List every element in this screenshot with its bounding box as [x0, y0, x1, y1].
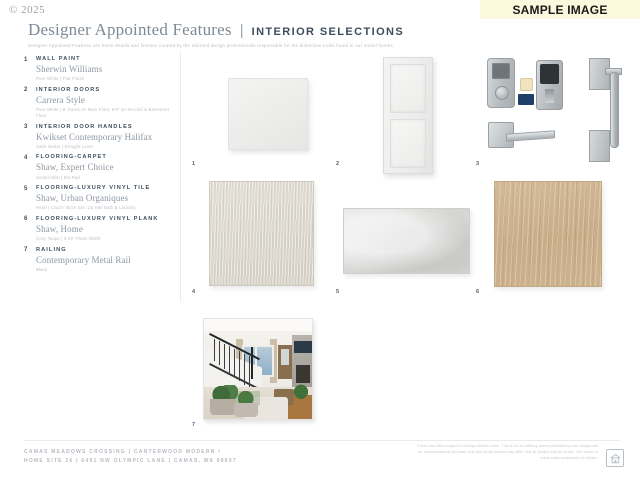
- equal-housing-opportunity-icon: [606, 449, 624, 467]
- legend-product-name: Shaw, Urban Organiques: [36, 193, 176, 205]
- legend-product-name: Shaw, Home: [36, 224, 176, 236]
- photo-metal-railing: [210, 333, 262, 379]
- list-item: 6 FLOORING-LUXURY VINYL PLANK Shaw, Home…: [24, 216, 176, 242]
- selection-sheet: SAMPLE IMAGE © 2025 Designer Appointed F…: [0, 0, 640, 480]
- smart-lock-slot: [545, 89, 554, 103]
- swatch-number-5: 5: [336, 289, 339, 295]
- swatch-carpet: [209, 181, 314, 286]
- legend-category: INTERIOR DOOR HANDLES: [36, 124, 176, 131]
- photo-railing-post: [234, 349, 235, 377]
- photo-newel-post: [251, 347, 253, 379]
- photo-television: [294, 341, 313, 353]
- brand-badge-icon: [518, 94, 534, 105]
- footer-disclaimer: Prices and offers subject to change with…: [413, 444, 598, 461]
- door-panel-top: [390, 64, 426, 113]
- swatch-number-4: 4: [192, 289, 195, 295]
- legend-number: 2: [24, 87, 36, 119]
- legend-product-spec: Pure White | 8' Doors on Main Floor, 6'8…: [36, 107, 176, 119]
- page-title: Designer Appointed Features: [28, 20, 232, 40]
- footer-divider: [24, 440, 620, 441]
- legend-number: 7: [24, 247, 36, 273]
- photo-railing-post: [219, 341, 220, 365]
- list-item: 1 WALL PAINT Sherwin Williams Pure White…: [24, 56, 176, 82]
- legend-product-name: Sherwin Williams: [36, 64, 176, 76]
- legend-category: FLOORING-LUXURY VINYL PLANK: [36, 216, 176, 223]
- page-subtitle: INTERIOR SELECTIONS: [252, 26, 405, 38]
- photo-railing-post: [229, 346, 230, 373]
- deadbolt-knob: [495, 86, 509, 100]
- photo-planter: [210, 399, 236, 415]
- legend-product-spec: Satin Nickel | Straight Lever: [36, 144, 176, 150]
- swatch-interior-door: [383, 57, 433, 174]
- keypad-deadbolt-icon: [487, 58, 515, 108]
- photo-ceiling: [204, 319, 313, 331]
- legend-product-spec: Pearl | 12x24" Brick Set, Up Hall Bath &…: [36, 205, 176, 211]
- photo-mirror: [281, 349, 289, 365]
- disclaimer-text: Prices and offers subject to change with…: [413, 444, 598, 461]
- swatch-interior-photo: [203, 318, 313, 420]
- legend-product-name: Shaw, Expert Choice: [36, 162, 176, 174]
- legend-product-name: Contemporary Metal Rail: [36, 255, 176, 267]
- handleset-grip: [610, 72, 619, 148]
- footer-line-community: CAMAS MEADOWS CROSSING | CANTERWOOD MODE…: [24, 448, 237, 457]
- legend-category: RAILING: [36, 247, 176, 254]
- title-separator: |: [238, 22, 246, 39]
- legend-category: INTERIOR DOORS: [36, 87, 176, 94]
- legend-number: 4: [24, 154, 36, 180]
- sample-image-banner: SAMPLE IMAGE: [480, 0, 640, 19]
- list-item: 5 FLOORING-LUXURY VINYL TILE Shaw, Urban…: [24, 185, 176, 211]
- swatch-luxury-vinyl-tile: [343, 208, 470, 274]
- handleset-bottom-plate: [589, 130, 610, 162]
- legend-number: 5: [24, 185, 36, 211]
- legend-product-spec: Cozy Taupe | 9.06" Plank Width: [36, 236, 176, 242]
- door-panel-bottom: [390, 119, 426, 168]
- legend-category: FLOORING-CARPET: [36, 154, 176, 161]
- swatch-number-1: 1: [192, 161, 195, 167]
- legend-product-spec: Scotch Mist | Bio Pad: [36, 175, 176, 181]
- photo-railing-post: [224, 344, 225, 369]
- photo-railing-post: [244, 354, 245, 385]
- photo-railing-post: [214, 339, 215, 361]
- handleset-icon: [583, 58, 623, 161]
- photo-railing-post: [249, 356, 250, 389]
- swatch-number-6: 6: [476, 289, 479, 295]
- smart-lock-icon: [536, 60, 563, 110]
- swatch-door-hardware: [480, 58, 630, 168]
- copyright-notice: © 2025: [9, 4, 45, 16]
- legend-product-name: Carrera Style: [36, 95, 176, 107]
- list-item: 3 INTERIOR DOOR HANDLES Kwikset Contempo…: [24, 124, 176, 150]
- vertical-divider: [180, 52, 181, 302]
- lock-badge-icon: [520, 78, 533, 91]
- title-row: Designer Appointed Features | INTERIOR S…: [28, 20, 620, 40]
- list-item: 7 RAILING Contemporary Metal Rail Black: [24, 247, 176, 273]
- legend-product-spec: Black: [36, 267, 176, 273]
- list-item: 2 INTERIOR DOORS Carrera Style Pure Whit…: [24, 87, 176, 119]
- legend-product-spec: Pure White | Flat Finish: [36, 76, 176, 82]
- keypad-keys: [492, 63, 510, 79]
- legend-number: 1: [24, 56, 36, 82]
- photo-plant: [290, 381, 312, 399]
- footer-community-info: CAMAS MEADOWS CROSSING | CANTERWOOD MODE…: [24, 448, 237, 467]
- list-item: 4 FLOORING-CARPET Shaw, Expert Choice Sc…: [24, 154, 176, 180]
- legend-number: 3: [24, 124, 36, 150]
- footer-line-address: HOME SITE 26 | 6491 NW OLYMPIC LANE | CA…: [24, 457, 237, 466]
- page-header: Designer Appointed Features | INTERIOR S…: [28, 20, 620, 48]
- photo-railing-post: [239, 351, 240, 381]
- header-description: Designer Appointed Features are home det…: [28, 43, 620, 48]
- legend-number: 6: [24, 216, 36, 242]
- swatch-luxury-vinyl-plank: [494, 181, 602, 287]
- smart-lock-screen: [540, 64, 559, 84]
- swatch-number-2: 2: [336, 161, 339, 167]
- photo-planter: [234, 403, 258, 417]
- legend-category: FLOORING-LUXURY VINYL TILE: [36, 185, 176, 192]
- legend-product-name: Kwikset Contemporary Halifax: [36, 132, 176, 144]
- legend-category: WALL PAINT: [36, 56, 176, 63]
- selections-legend: 1 WALL PAINT Sherwin Williams Pure White…: [24, 56, 176, 277]
- door-lever-icon: [488, 120, 554, 150]
- swatch-number-7: 7: [192, 422, 195, 428]
- swatch-wall-paint: [228, 78, 308, 150]
- swatch-number-3: 3: [476, 161, 479, 167]
